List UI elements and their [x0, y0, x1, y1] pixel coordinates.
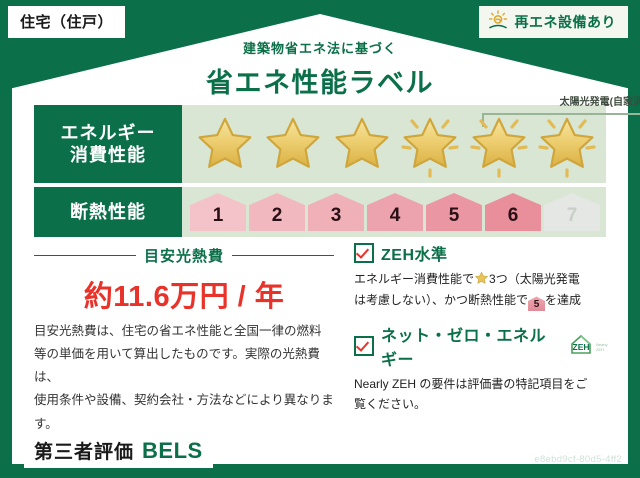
net-zero-desc-line-1: Nearly ZEH の要件は評価書の特記項目をご — [354, 375, 608, 394]
note-line-1: 目安光熱費は、住宅の省エネ性能と全国一律の燃料 — [34, 320, 340, 343]
property-name: セレスティア旭町 202 — [210, 442, 365, 462]
star-4 — [397, 111, 463, 177]
insulation-performance-label: 断熱性能 — [34, 187, 182, 237]
insulation-level-badges: 1234567 — [190, 187, 600, 237]
insulation-badge-1: 1 — [190, 193, 246, 231]
zeh-house-logo-icon: ZEH Nearly ZEH — [568, 332, 608, 361]
star-1 — [192, 111, 258, 177]
label-card: 建築物省エネ法に基づく 省エネ性能ラベル エネルギー 消費性能 太陽光発電(自家… — [20, 30, 620, 457]
net-zero-desc-line-2: 覧ください。 — [354, 395, 608, 414]
svg-text:ZEH: ZEH — [596, 347, 604, 352]
divider-right — [232, 255, 334, 256]
zeh-level-description: エネルギー消費性能で3つ（太陽光発電は考慮しない）、かつ断熱性能で5を達成 — [354, 270, 608, 311]
insulation-badge-5: 5 — [426, 193, 482, 231]
note-line-2: 等の単価を用いて算出したものです。実際の光熱費は、 — [34, 343, 340, 389]
star-rating — [192, 105, 600, 183]
utility-cost-block: 目安光熱費 約11.6万円 / 年 — [34, 245, 334, 315]
energy-label-line1: エネルギー — [61, 122, 156, 145]
star-6 — [534, 111, 600, 177]
energy-performance-row: エネルギー 消費性能 太陽光発電(自家消費)分 — [34, 105, 606, 183]
star-3 — [329, 111, 395, 177]
zeh-desc-star-count: 3つ（太陽光発電 — [489, 272, 580, 286]
zeh-desc-part-c: を達成 — [545, 293, 581, 307]
net-zero-energy-block: ネット・ゼロ・エネルギー ZEH Nearly ZEH Nearly ZEH の… — [354, 322, 608, 414]
zeh-level-title: ZEH水準 — [381, 241, 448, 265]
insulation-badge-7: 7 — [544, 193, 600, 231]
page-subtitle: 建築物省エネ法に基づく — [20, 38, 620, 57]
zeh-desc-part-b: は考慮しない）、かつ断熱性能で — [354, 293, 528, 307]
building-type-tag: 住宅（住戸） — [8, 6, 125, 38]
insulation-badge-6: 6 — [485, 193, 541, 231]
energy-performance-body: 太陽光発電(自家消費)分 — [182, 105, 606, 183]
footer: 第三者評価 BELS セレスティア旭町 202 評価日 2026年2月25日 e… — [0, 426, 640, 478]
bels-tag: 第三者評価 BELS — [24, 434, 213, 468]
checkmark-icon — [354, 336, 374, 356]
utility-cost-note: 目安光熱費は、住宅の省エネ性能と全国一律の燃料 等の単価を用いて算出したものです… — [34, 320, 340, 436]
utility-cost-heading-text: 目安光熱費 — [144, 245, 224, 266]
renewable-energy-badge-label: 再エネ設備あり — [515, 12, 617, 32]
sun-icon — [487, 10, 509, 33]
insulation-badge-3: 3 — [308, 193, 364, 231]
zeh-desc-part-a: エネルギー消費性能で — [354, 272, 474, 286]
page-title: 建築物省エネ法に基づく 省エネ性能ラベル — [20, 38, 620, 100]
star-2 — [260, 111, 326, 177]
inline-insulation-badge: 5 — [528, 296, 545, 311]
energy-label-line2: 消費性能 — [61, 144, 156, 167]
utility-cost-heading: 目安光熱費 — [34, 245, 334, 266]
inline-star-icon — [474, 271, 489, 291]
certification-column: ZEH水準 エネルギー消費性能で3つ（太陽光発電は考慮しない）、かつ断熱性能で5… — [354, 241, 608, 425]
utility-cost-value: 約11.6万円 / 年 — [34, 273, 334, 315]
zeh-level-title-row: ZEH水準 — [354, 241, 608, 265]
energy-performance-label: エネルギー 消費性能 — [34, 105, 182, 183]
evaluation-date: 評価日 2026年2月25日 — [485, 434, 622, 454]
insulation-badge-4: 4 — [367, 193, 423, 231]
net-zero-description: Nearly ZEH の要件は評価書の特記項目をご 覧ください。 — [354, 375, 608, 414]
renewable-energy-badge: 再エネ設備あり — [479, 6, 629, 38]
net-zero-title-row: ネット・ゼロ・エネルギー ZEH Nearly ZEH — [354, 322, 608, 370]
bels-tag-en: BELS — [142, 438, 203, 464]
net-zero-title: ネット・ゼロ・エネルギー — [381, 322, 558, 370]
svg-text:ZEH: ZEH — [573, 342, 590, 352]
divider-left — [34, 255, 136, 256]
zeh-level-block: ZEH水準 エネルギー消費性能で3つ（太陽光発電は考慮しない）、かつ断熱性能で5… — [354, 241, 608, 311]
insulation-badge-2: 2 — [249, 193, 305, 231]
insulation-performance-body: 1234567 — [182, 187, 606, 237]
evaluation-id: e8ebd9cf-80d5-4ff2 — [534, 454, 622, 465]
star-5 — [466, 111, 532, 177]
insulation-performance-row: 断熱性能 1234567 — [34, 187, 606, 237]
checkmark-icon — [354, 243, 374, 263]
bels-tag-jp: 第三者評価 — [34, 437, 134, 464]
